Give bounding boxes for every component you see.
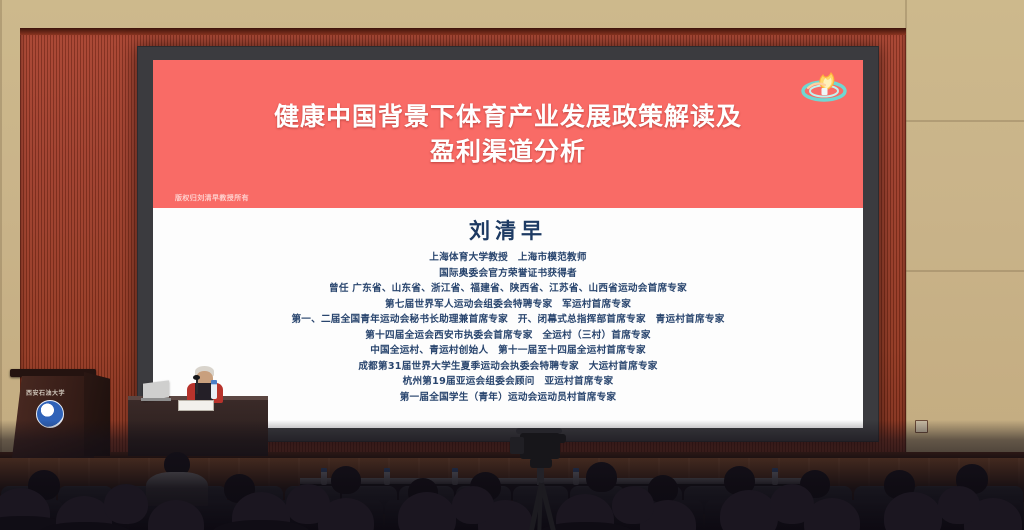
credential-line: 第七届世界军人运动会组委会特聘专家 军运村首席专家 <box>385 297 631 313</box>
slide-title-line-2: 盈利渠道分析 <box>181 134 834 170</box>
credential-line: 中国全运村、青运村创始人 第十一届至十四届全运村首席专家 <box>370 343 646 359</box>
lecture-hall-photo: 健康中国背景下体育产业发展政策解读及 盈利渠道分析 版权归刘清早教授所有 刘清早… <box>0 0 1024 530</box>
speaker-person <box>186 366 226 400</box>
credential-line: 成都第31届世界大学生夏季运动会执委会特聘专家 大运村首席专家 <box>358 359 657 375</box>
microphone-head-icon <box>193 375 200 380</box>
slide-header-band: 健康中国背景下体育产业发展政策解读及 盈利渠道分析 版权归刘清早教授所有 <box>153 60 863 208</box>
credential-line: 第十四届全运会西安市执委会首席专家 全运村（三村）首席专家 <box>365 328 650 344</box>
camera-viewfinder <box>552 434 566 443</box>
laptop-base <box>141 398 171 401</box>
microphone-stand <box>196 378 198 394</box>
credential-line: 上海体育大学教授 上海市模范教师 <box>429 250 587 266</box>
water-bottle <box>211 380 217 399</box>
credential-line: 曾任 广东省、山东省、浙江省、福建省、陕西省、江苏省、山西省运动会首席专家 <box>329 281 687 297</box>
wall-top-shadow <box>20 28 906 35</box>
speaker-name: 刘清早 <box>469 215 547 245</box>
presentation-slide: 健康中国背景下体育产业发展政策解读及 盈利渠道分析 版权归刘清早教授所有 刘清早… <box>153 60 863 428</box>
copyright-notice: 版权归刘清早教授所有 <box>175 193 249 203</box>
credential-line: 国际奥委会官方荣誉证书获得者 <box>439 266 577 282</box>
projection-screen: 健康中国背景下体育产业发展政策解读及 盈利渠道分析 版权归刘清早教授所有 刘清早… <box>137 46 879 442</box>
audience-head <box>938 486 980 524</box>
stone-seam <box>0 0 2 470</box>
video-camera-rig <box>500 428 580 530</box>
podium-top-surface <box>10 369 96 377</box>
audience-head <box>612 486 654 524</box>
audience-head <box>452 486 494 524</box>
stone-seam <box>905 120 1024 122</box>
credential-line: 第一、二届全国青年运动会秘书长助理兼首席专家 开、闭幕式总指挥部首席专家 青运村… <box>291 312 724 328</box>
podium-university-label: 西安石油大学 <box>26 388 65 397</box>
name-card <box>178 400 214 411</box>
audience-head <box>286 484 330 524</box>
audience-head <box>770 484 814 524</box>
torch-flame-emblem-icon <box>799 64 849 110</box>
credential-line: 杭州第19届亚运会组委会顾问 亚运村首席专家 <box>403 374 614 390</box>
camera-lens-hood <box>510 437 524 454</box>
audience-head <box>104 484 148 524</box>
slide-body: 刘清早 上海体育大学教授 上海市模范教师 国际奥委会官方荣誉证书获得者 曾任 广… <box>153 208 863 428</box>
tripod-head <box>530 458 552 468</box>
credential-line: 第一届全国学生（青年）运动会运动员村首席专家 <box>400 390 617 406</box>
stone-seam <box>905 270 1024 272</box>
slide-title-line-1: 健康中国背景下体育产业发展政策解读及 <box>181 99 834 135</box>
